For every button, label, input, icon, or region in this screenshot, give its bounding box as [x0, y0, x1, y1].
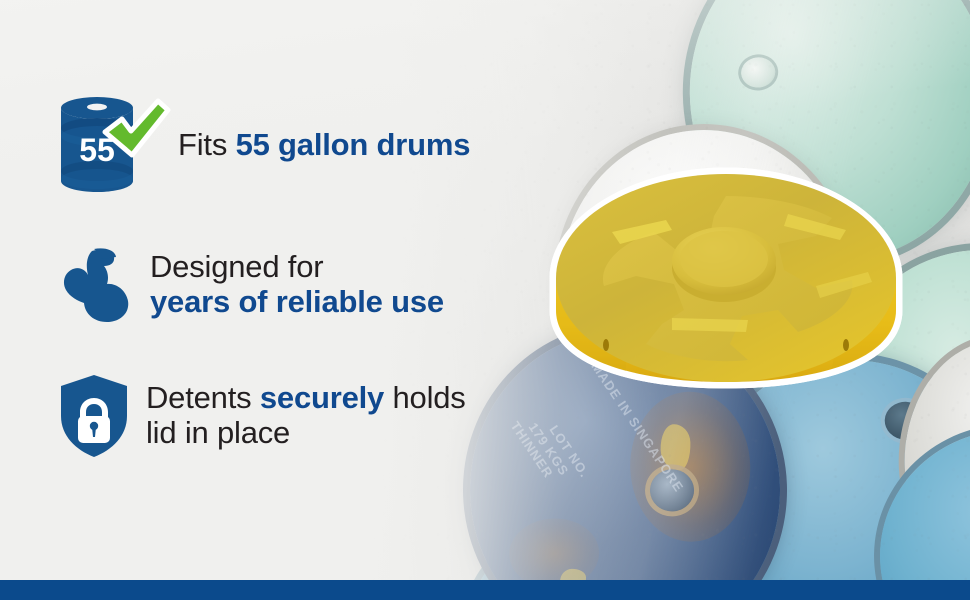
- feature-line-plain: Detents: [146, 380, 260, 415]
- shield-lock-icon: [58, 372, 130, 460]
- feature-designed-for-years-of-reliable-use: Designed for years of reliable use: [58, 245, 444, 325]
- feature-fits-55-gallon-drums: 55 Fits 55 gallon drums: [58, 95, 470, 195]
- product-image-drum-lid: [516, 160, 936, 390]
- lid-rib-highlight: [672, 318, 748, 332]
- feature-line-accent: years of reliable use: [150, 285, 444, 320]
- feature-detents-securely-holds-lid-in-place: Detents securely holds lid in place: [58, 372, 466, 460]
- feature-text: Fits 55 gallon drums: [178, 127, 470, 164]
- feature-icon-wrap: 55: [58, 95, 178, 195]
- flexed-bicep-icon: [58, 245, 138, 325]
- lid-vent-hole: [843, 339, 849, 351]
- feature-text: Designed for years of reliable use: [150, 250, 444, 319]
- bottom-accent-bar: [0, 580, 970, 600]
- feature-line-plain: Fits: [178, 127, 236, 162]
- feature-line-plain: Designed for: [150, 249, 323, 284]
- feature-line-plain: holds: [384, 380, 466, 415]
- feature-line-bold: 55 gallon drums: [236, 127, 471, 162]
- feature-line-bold: securely: [260, 380, 384, 415]
- lid-vent-hole: [603, 339, 609, 351]
- lid-center-boss-top: [680, 231, 768, 287]
- check-icon: [100, 97, 172, 163]
- feature-text: Detents securely holds lid in place: [146, 381, 466, 450]
- feature-line-plain: lid in place: [146, 415, 290, 450]
- marketing-banner: THINNER 179 KGS LOT NO. MADE IN SINGAPOR…: [0, 0, 970, 600]
